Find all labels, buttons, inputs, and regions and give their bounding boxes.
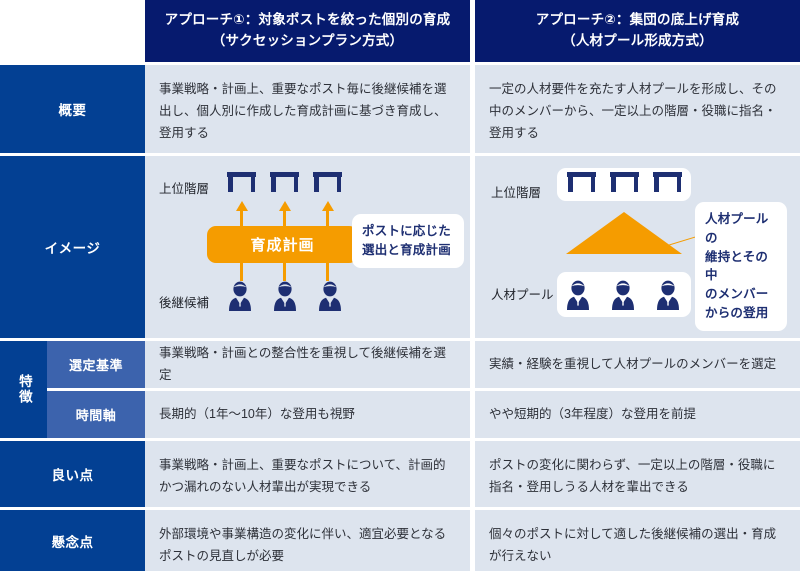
row-sublabel-timeline-text: 時間軸	[76, 405, 117, 424]
callout-left-line2: 選出と育成計画	[362, 241, 454, 260]
cell-criteria-approach-2-text: 実績・経験を重視して人材プールのメンバーを選定	[489, 354, 776, 376]
callout-right: 人材プールの 維持とその中 のメンバー からの登用	[695, 202, 787, 331]
diagram-talent-pool: 上位階層 人材プール 人材プールの 維持とその中 のメンバー からの登用	[475, 156, 800, 338]
desk-icon	[313, 172, 342, 192]
cell-cons-approach-1: 外部環境や事業構造の変化に伴い、適宜必要となるポストの見直しが必要	[145, 510, 470, 571]
promotion-triangle	[566, 212, 682, 254]
row-sublabel-timeline: 時間軸	[47, 391, 145, 438]
cell-overview-approach-2-text: 一定の人材要件を充たす人材プールを形成し、その中のメンバーから、一定以上の階層・…	[489, 79, 786, 145]
diagram-left-bottom-label: 後継候補	[159, 292, 209, 311]
row-label-pros-text: 良い点	[52, 464, 94, 484]
header-approach-1-line1: アプローチ①：対象ポストを絞った個別の育成	[165, 12, 451, 27]
callout-right-line1: 人材プールの	[705, 210, 777, 248]
row-label-cons-text: 懸念点	[52, 531, 94, 551]
row-label-features: 特徴	[0, 341, 47, 438]
development-plan-box-label: 育成計画	[250, 234, 314, 255]
diagram-right-desk-row	[567, 172, 682, 192]
cell-overview-approach-1-text: 事業戦略・計画上、重要なポスト毎に後継候補を選出し、個人別に作成した育成計画に基…	[159, 79, 456, 145]
diagram-right-top-label: 上位階層	[491, 182, 541, 201]
diagram-left-desk-row	[227, 172, 342, 192]
header-approach-2-line2: （人材プール形成方式）	[562, 33, 713, 48]
callout-left: ポストに応じた 選出と育成計画	[352, 214, 464, 268]
arrow-head-icon	[322, 201, 334, 211]
header-approach-2: アプローチ②：集団の底上げ育成 （人材プール形成方式）	[475, 0, 800, 62]
cell-timeline-approach-1: 長期的（1年〜10年）な登用も視野	[145, 391, 470, 438]
row-label-overview-text: 概要	[59, 99, 87, 119]
arrow-head-icon	[236, 201, 248, 211]
person-icon	[272, 281, 298, 311]
row-label-cons: 懸念点	[0, 510, 145, 571]
cell-cons-approach-2-text: 個々のポストに対して適した後継候補の選出・育成が行えない	[489, 524, 786, 568]
person-icon	[610, 280, 636, 310]
diagram-right-bottom-label: 人材プール	[491, 284, 554, 303]
desk-icon	[227, 172, 256, 192]
cell-overview-approach-2: 一定の人材要件を充たす人材プールを形成し、その中のメンバーから、一定以上の階層・…	[475, 65, 800, 153]
callout-right-line4: からの登用	[705, 304, 777, 323]
row-sublabel-criteria: 選定基準	[47, 341, 145, 388]
header-approach-2-line1: アプローチ②：集団の底上げ育成	[536, 12, 739, 27]
development-plan-box: 育成計画	[207, 226, 358, 263]
cell-criteria-approach-1: 事業戦略・計画との整合性を重視して後継候補を選定	[145, 341, 470, 388]
cell-pros-approach-2-text: ポストの変化に関わらず、一定以上の階層・役職に指名・登用しうる人材を輩出できる	[489, 455, 786, 499]
diagram-succession-plan: 上位階層 後継候補 育成計画 ポストに応じた 選出と育成計画	[145, 156, 470, 338]
diagram-right-people-row	[565, 280, 681, 310]
header-approach-1: アプローチ①：対象ポストを絞った個別の育成 （サクセッションプラン方式）	[145, 0, 470, 62]
comparison-table: アプローチ①：対象ポストを絞った個別の育成 （サクセッションプラン方式） アプロ…	[0, 0, 800, 571]
callout-left-line1: ポストに応じた	[362, 222, 454, 241]
desk-icon	[610, 172, 639, 192]
row-label-features-text: 特徴	[16, 374, 31, 405]
person-icon	[317, 281, 343, 311]
row-sublabel-criteria-text: 選定基準	[69, 355, 123, 374]
diagram-left-top-label: 上位階層	[159, 178, 209, 197]
person-icon	[655, 280, 681, 310]
cell-timeline-approach-2: やや短期的（3年程度）な登用を前提	[475, 391, 800, 438]
cell-timeline-approach-1-text: 長期的（1年〜10年）な登用も視野	[159, 404, 355, 426]
cell-criteria-approach-1-text: 事業戦略・計画との整合性を重視して後継候補を選定	[159, 343, 456, 387]
person-icon	[565, 280, 591, 310]
header-corner	[0, 0, 145, 62]
cell-pros-approach-2: ポストの変化に関わらず、一定以上の階層・役職に指名・登用しうる人材を輩出できる	[475, 441, 800, 507]
cell-cons-approach-1-text: 外部環境や事業構造の変化に伴い、適宜必要となるポストの見直しが必要	[159, 524, 456, 568]
person-icon	[227, 281, 253, 311]
cell-pros-approach-1: 事業戦略・計画上、重要なポストについて、計画的かつ漏れのない人材輩出が実現できる	[145, 441, 470, 507]
row-label-overview: 概要	[0, 65, 145, 153]
cell-pros-approach-1-text: 事業戦略・計画上、重要なポストについて、計画的かつ漏れのない人材輩出が実現できる	[159, 455, 456, 499]
cell-cons-approach-2: 個々のポストに対して適した後継候補の選出・育成が行えない	[475, 510, 800, 571]
row-label-image: イメージ	[0, 156, 145, 338]
cell-overview-approach-1: 事業戦略・計画上、重要なポスト毎に後継候補を選出し、個人別に作成した育成計画に基…	[145, 65, 470, 153]
callout-right-line2: 維持とその中	[705, 248, 777, 286]
diagram-left-people-row	[227, 281, 343, 311]
cell-timeline-approach-2-text: やや短期的（3年程度）な登用を前提	[489, 404, 696, 426]
cell-criteria-approach-2: 実績・経験を重視して人材プールのメンバーを選定	[475, 341, 800, 388]
header-approach-1-line2: （サクセッションプラン方式）	[212, 33, 403, 48]
desk-icon	[270, 172, 299, 192]
desk-icon	[567, 172, 596, 192]
row-label-image-text: イメージ	[45, 237, 101, 257]
arrow-head-icon	[279, 201, 291, 211]
row-label-pros: 良い点	[0, 441, 145, 507]
callout-right-line3: のメンバー	[705, 285, 777, 304]
desk-icon	[653, 172, 682, 192]
